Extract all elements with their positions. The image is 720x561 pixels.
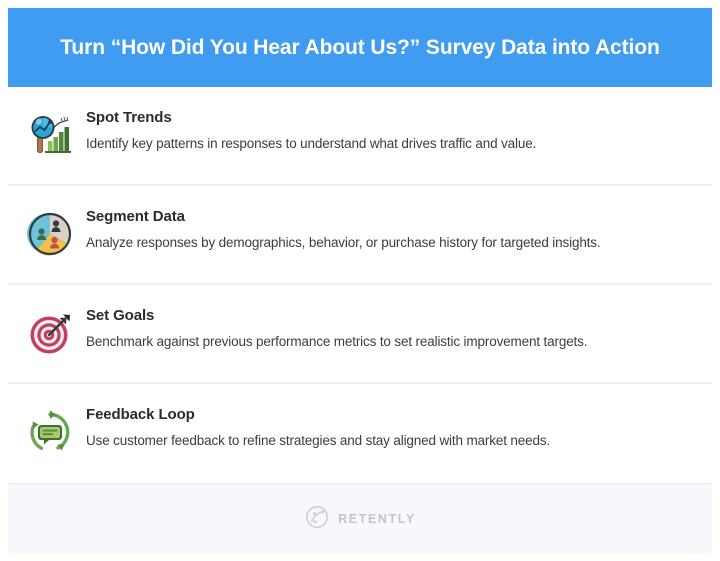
list-item-title: Set Goals bbox=[86, 307, 587, 326]
infographic-card: Turn “How Did You Hear About Us?” Survey… bbox=[8, 8, 712, 553]
list-item-text: Spot Trends Identify key patterns in res… bbox=[86, 107, 536, 153]
tips-list: Spot Trends Identify key patterns in res… bbox=[8, 87, 712, 483]
list-item-description: Identify key patterns in responses to un… bbox=[86, 135, 536, 153]
segmented-pie-people-icon bbox=[24, 208, 76, 260]
list-item[interactable]: Spot Trends Identify key patterns in res… bbox=[8, 87, 712, 186]
list-item-text: Segment Data Analyze responses by demogr… bbox=[86, 206, 601, 252]
list-item[interactable]: Segment Data Analyze responses by demogr… bbox=[8, 186, 712, 285]
footer-bar: RETENTLY bbox=[8, 483, 712, 553]
list-item-text: Feedback Loop Use customer feedback to r… bbox=[86, 404, 550, 450]
page-title: Turn “How Did You Hear About Us?” Survey… bbox=[60, 35, 659, 60]
list-item-text: Set Goals Benchmark against previous per… bbox=[86, 305, 587, 351]
list-item-title: Feedback Loop bbox=[86, 406, 550, 425]
list-item[interactable]: Feedback Loop Use customer feedback to r… bbox=[8, 384, 712, 483]
list-item-title: Segment Data bbox=[86, 208, 601, 227]
retently-logo-text: RETENTLY bbox=[338, 512, 416, 526]
feedback-loop-icon bbox=[24, 406, 76, 458]
retently-logo[interactable]: RETENTLY bbox=[304, 504, 416, 535]
magnifier-bar-chart-icon bbox=[24, 109, 76, 161]
retently-circle-swoosh-icon bbox=[304, 504, 330, 535]
list-item-description: Use customer feedback to refine strategi… bbox=[86, 432, 550, 450]
header-banner: Turn “How Did You Hear About Us?” Survey… bbox=[8, 8, 712, 87]
list-item-description: Analyze responses by demographics, behav… bbox=[86, 234, 601, 252]
list-item-description: Benchmark against previous performance m… bbox=[86, 333, 587, 351]
list-item[interactable]: Set Goals Benchmark against previous per… bbox=[8, 285, 712, 384]
list-item-title: Spot Trends bbox=[86, 109, 536, 128]
target-dart-icon bbox=[24, 307, 76, 359]
